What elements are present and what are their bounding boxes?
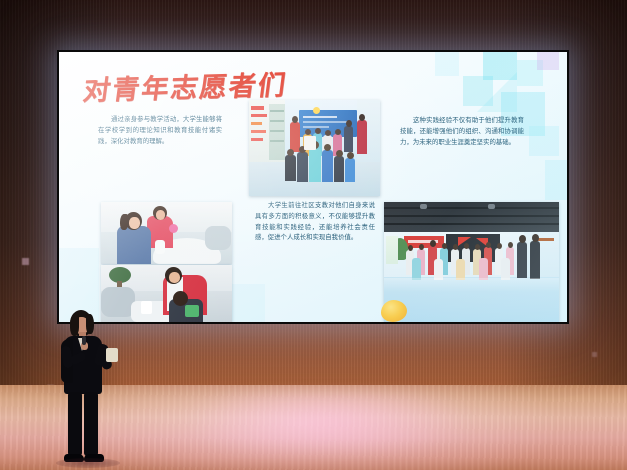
slide-paragraph-left: 通过亲身参与教学活动，大学生能够将在学校学到的理论知识和教育技能付诸实践，深化对… [98, 114, 222, 146]
presentation-slide[interactable]: 对青年志愿者们 通过亲身参与教学活动，大学生能够将在学校学到的理论知识和教育技能… [59, 52, 567, 322]
slide-photo-tutoring-1 [101, 202, 232, 264]
slide-photo-hall [384, 202, 559, 322]
presenter [48, 310, 132, 470]
wall-light-spot [22, 258, 29, 265]
wall-light-spot [592, 352, 597, 357]
slide-paragraph-right: 这种实践经验不仅有助于他们提升教育技能，还能增强他们的组织、沟通和协调能力，为未… [400, 115, 524, 147]
slide-paragraph-middle: 大学生前往社区支教对他们自身来说具有多方面的积极意义，不仅能够提升教育技能和实践… [255, 200, 375, 243]
lecture-hall-scene: 对青年志愿者们 通过亲身参与教学活动，大学生能够将在学校学到的理论知识和教育技能… [0, 0, 627, 470]
slide-photo-group [249, 100, 380, 196]
stage-light-glow-core [120, 392, 540, 452]
